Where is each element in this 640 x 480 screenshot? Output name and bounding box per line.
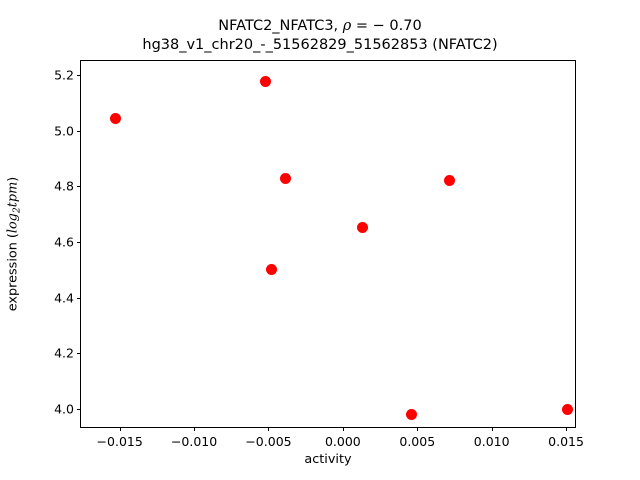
y-axis-tick-label: 5.2 [54,68,74,83]
x-axis-tick-label: −0.005 [245,434,291,449]
y-axis-tick [77,298,81,299]
x-axis-tick-label: −0.010 [171,434,217,449]
chart-title-line-1-prefix: NFATC2_NFATC3, [218,18,342,34]
data-point [280,173,291,184]
plot-axes: −0.015−0.010−0.0050.0000.0050.0100.0154.… [80,60,576,428]
data-point [444,175,455,186]
y-axis-label-prefix: expression ( [6,233,21,311]
y-axis-tick [77,186,81,187]
y-axis-tick-label: 4.2 [54,346,74,361]
x-axis-tick-label: 0.000 [325,434,361,449]
y-axis-label-suffix: ) [6,177,21,182]
y-axis-label-subscript: 2 [11,207,22,213]
y-axis-tick [77,353,81,354]
x-axis-tick [268,427,269,431]
y-axis-label-math: log [6,213,21,233]
scatter-plot-figure: NFATC2_NFATC3, ρ = − 0.70 hg38_v1_chr20_… [0,0,640,480]
x-axis-tick [343,427,344,431]
x-axis-tick-label: 0.015 [548,434,584,449]
y-axis-tick [77,131,81,132]
chart-title-line-1: NFATC2_NFATC3, ρ = − 0.70 [0,17,640,36]
x-axis-tick [492,427,493,431]
data-point [266,264,277,275]
y-axis-tick-label: 4.0 [54,402,74,417]
x-axis-tick [566,427,567,431]
x-axis-label: activity [80,452,576,467]
x-axis-tick-label: 0.005 [399,434,435,449]
plot-data-area [81,61,575,427]
y-axis-tick-label: 5.0 [54,123,74,138]
data-point [260,76,271,87]
chart-title: NFATC2_NFATC3, ρ = − 0.70 hg38_v1_chr20_… [0,17,640,55]
y-axis-label: expression (log2tpm) [6,177,23,311]
y-axis-label-math2: tpm [6,182,21,207]
data-point [562,404,573,415]
y-axis-tick-label: 4.4 [54,290,74,305]
y-axis-tick [77,409,81,410]
data-point [406,409,417,420]
y-axis-tick [77,75,81,76]
x-axis-tick [417,427,418,431]
x-axis-tick [194,427,195,431]
data-point [110,113,121,124]
x-axis-tick [120,427,121,431]
data-point [357,222,368,233]
chart-subtitle: hg38_v1_chr20_-_51562829_51562853 (NFATC… [0,36,640,55]
x-axis-tick-label: 0.010 [474,434,510,449]
y-axis-tick-label: 4.8 [54,179,74,194]
chart-title-line-1-suffix: = − 0.70 [351,18,421,34]
x-axis-tick-label: −0.015 [97,434,143,449]
y-axis-tick [77,242,81,243]
y-axis-tick-label: 4.6 [54,235,74,250]
